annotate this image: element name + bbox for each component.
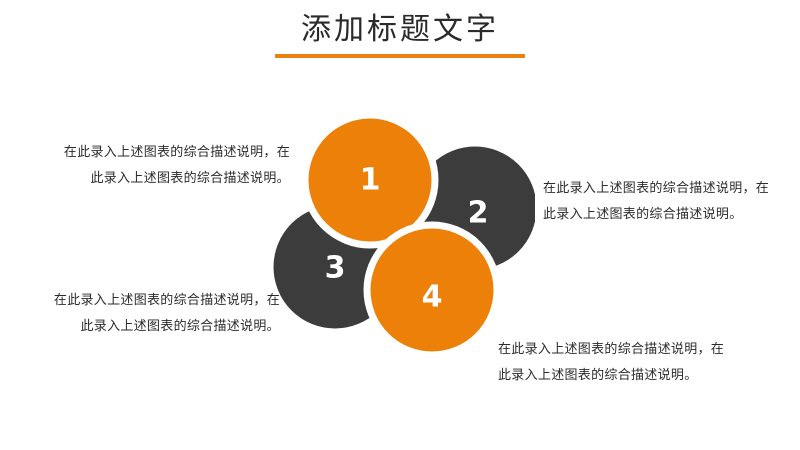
title-underline — [275, 54, 525, 58]
description-text-4: 在此录入上述图表的综合描述说明，在此录入上述图表的综合描述说明。 — [498, 337, 726, 389]
description-text-1: 在此录入上述图表的综合描述说明，在此录入上述图表的综合描述说明。 — [62, 140, 290, 192]
petal-3-number: 3 — [325, 251, 346, 286]
petal-diagram: 1 2 3 4 — [265, 105, 535, 360]
petal-diagram-svg: 1 2 3 4 — [265, 105, 535, 360]
title-block: 添加标题文字 — [0, 12, 800, 58]
petal-2-number: 2 — [468, 196, 489, 231]
page-title: 添加标题文字 — [0, 12, 800, 48]
description-text-2: 在此录入上述图表的综合描述说明，在此录入上述图表的综合描述说明。 — [543, 176, 771, 228]
petal-1-number: 1 — [360, 163, 381, 198]
description-text-3: 在此录入上述图表的综合描述说明，在此录入上述图表的综合描述说明。 — [52, 288, 280, 340]
petal-4-number: 4 — [422, 280, 443, 315]
